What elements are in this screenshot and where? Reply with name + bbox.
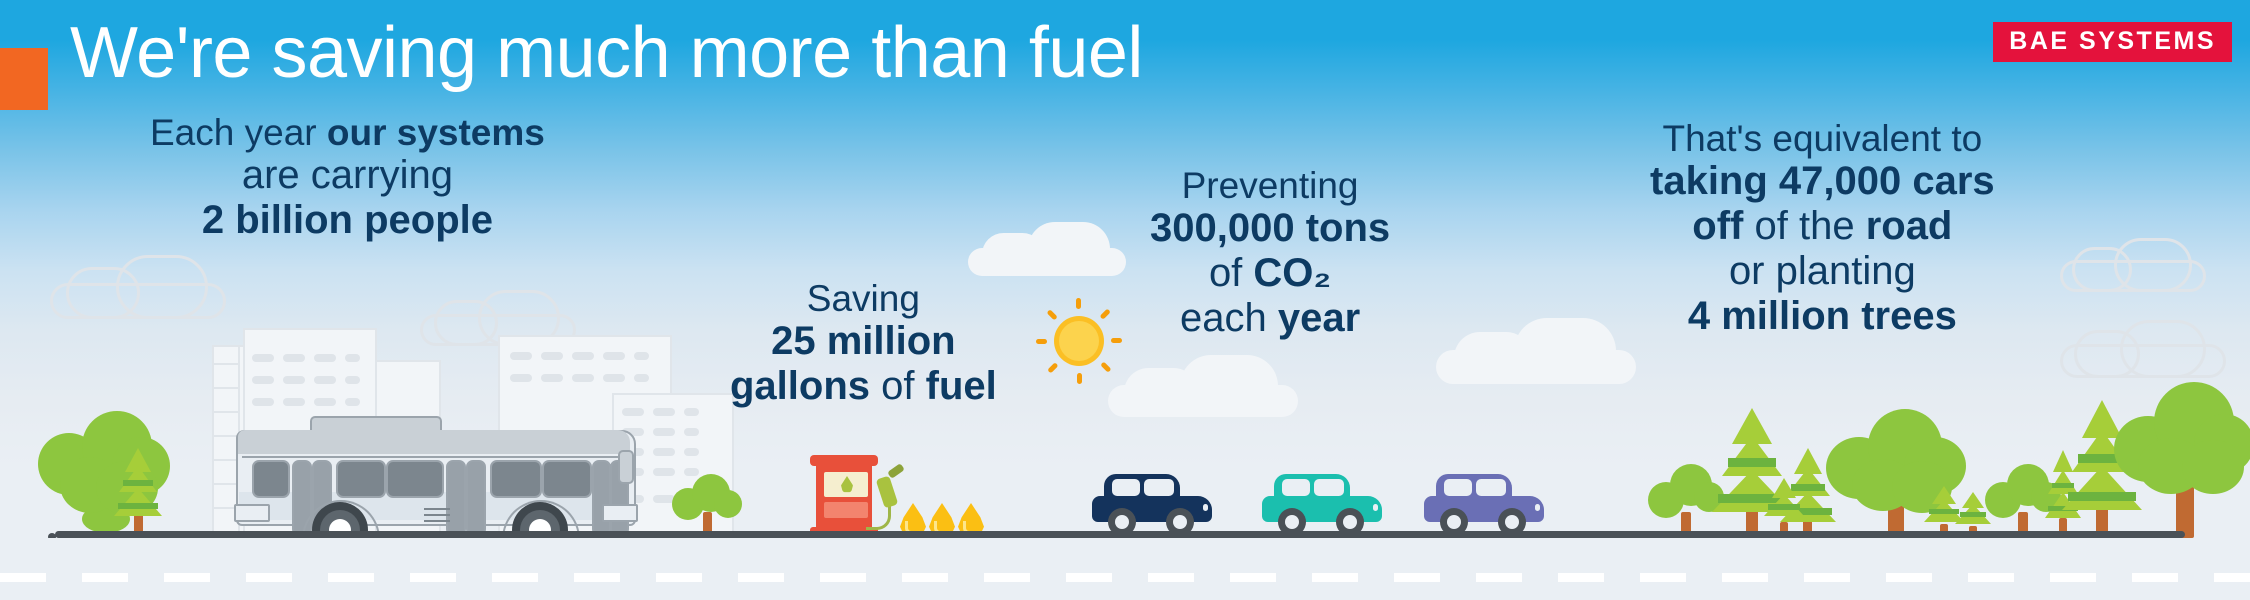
- stat-co2: Preventing300,000 tonsof CO₂each year: [1150, 165, 1390, 341]
- stat-line: 2 billion people: [150, 198, 545, 243]
- stat-line: 4 million trees: [1650, 294, 1995, 339]
- stat-line: That's equivalent to: [1650, 118, 1995, 159]
- logo-text: BAE SYSTEMS: [2009, 29, 2216, 54]
- stat-fuel: Saving25 milliongallons of fuel: [730, 278, 997, 409]
- stat-line: Each year our systems: [150, 112, 545, 153]
- cloud-icon: [420, 290, 570, 340]
- stat-equivalent: That's equivalent totaking 47,000 carsof…: [1650, 118, 1995, 339]
- cloud-icon: [968, 222, 1126, 276]
- building-windows: [622, 408, 699, 416]
- stat-line: Saving: [730, 278, 997, 319]
- orange-accent-bar: [0, 48, 48, 110]
- sun-icon: [1048, 310, 1110, 372]
- stat-line: off of the road: [1650, 204, 1995, 249]
- infographic-canvas: We're saving much more than fuel BAE SYS…: [0, 0, 2250, 600]
- stat-line: 25 million: [730, 319, 997, 364]
- ground-line: [55, 531, 2185, 538]
- bae-systems-logo: BAE SYSTEMS: [1993, 22, 2232, 62]
- city-bus-illustration: [236, 416, 646, 536]
- building-windows: [252, 376, 360, 384]
- page-title: We're saving much more than fuel: [70, 17, 1143, 89]
- building-windows: [510, 352, 649, 360]
- cloud-icon: [2060, 238, 2200, 286]
- cloud-icon: [2060, 320, 2220, 372]
- tree-deciduous: [672, 470, 742, 536]
- tree-conifer: [114, 448, 162, 536]
- stat-line: each year: [1150, 296, 1390, 341]
- cloud-icon: [1436, 318, 1636, 384]
- cloud-icon: [1108, 355, 1298, 417]
- car-teal: [1262, 474, 1382, 532]
- building-windows: [252, 398, 360, 406]
- road: [0, 538, 2250, 600]
- tree-deciduous: [2114, 368, 2250, 538]
- car-navy: [1092, 474, 1212, 532]
- cloud-icon: [50, 255, 220, 313]
- stat-line: gallons of fuel: [730, 364, 997, 409]
- stat-passengers: Each year our systemsare carrying2 billi…: [150, 112, 545, 243]
- stat-line: 300,000 tons: [1150, 206, 1390, 251]
- stat-line: or planting: [1650, 249, 1995, 294]
- stat-line: of CO₂: [1150, 251, 1390, 296]
- stat-line: are carrying: [150, 153, 545, 198]
- building-windows: [252, 354, 360, 362]
- building-windows: [510, 374, 649, 382]
- tree-conifer: [1760, 478, 1808, 538]
- stat-line: taking 47,000 cars: [1650, 159, 1995, 204]
- road-dashes: [0, 573, 2250, 582]
- car-purple: [1424, 474, 1544, 532]
- stat-line: Preventing: [1150, 165, 1390, 206]
